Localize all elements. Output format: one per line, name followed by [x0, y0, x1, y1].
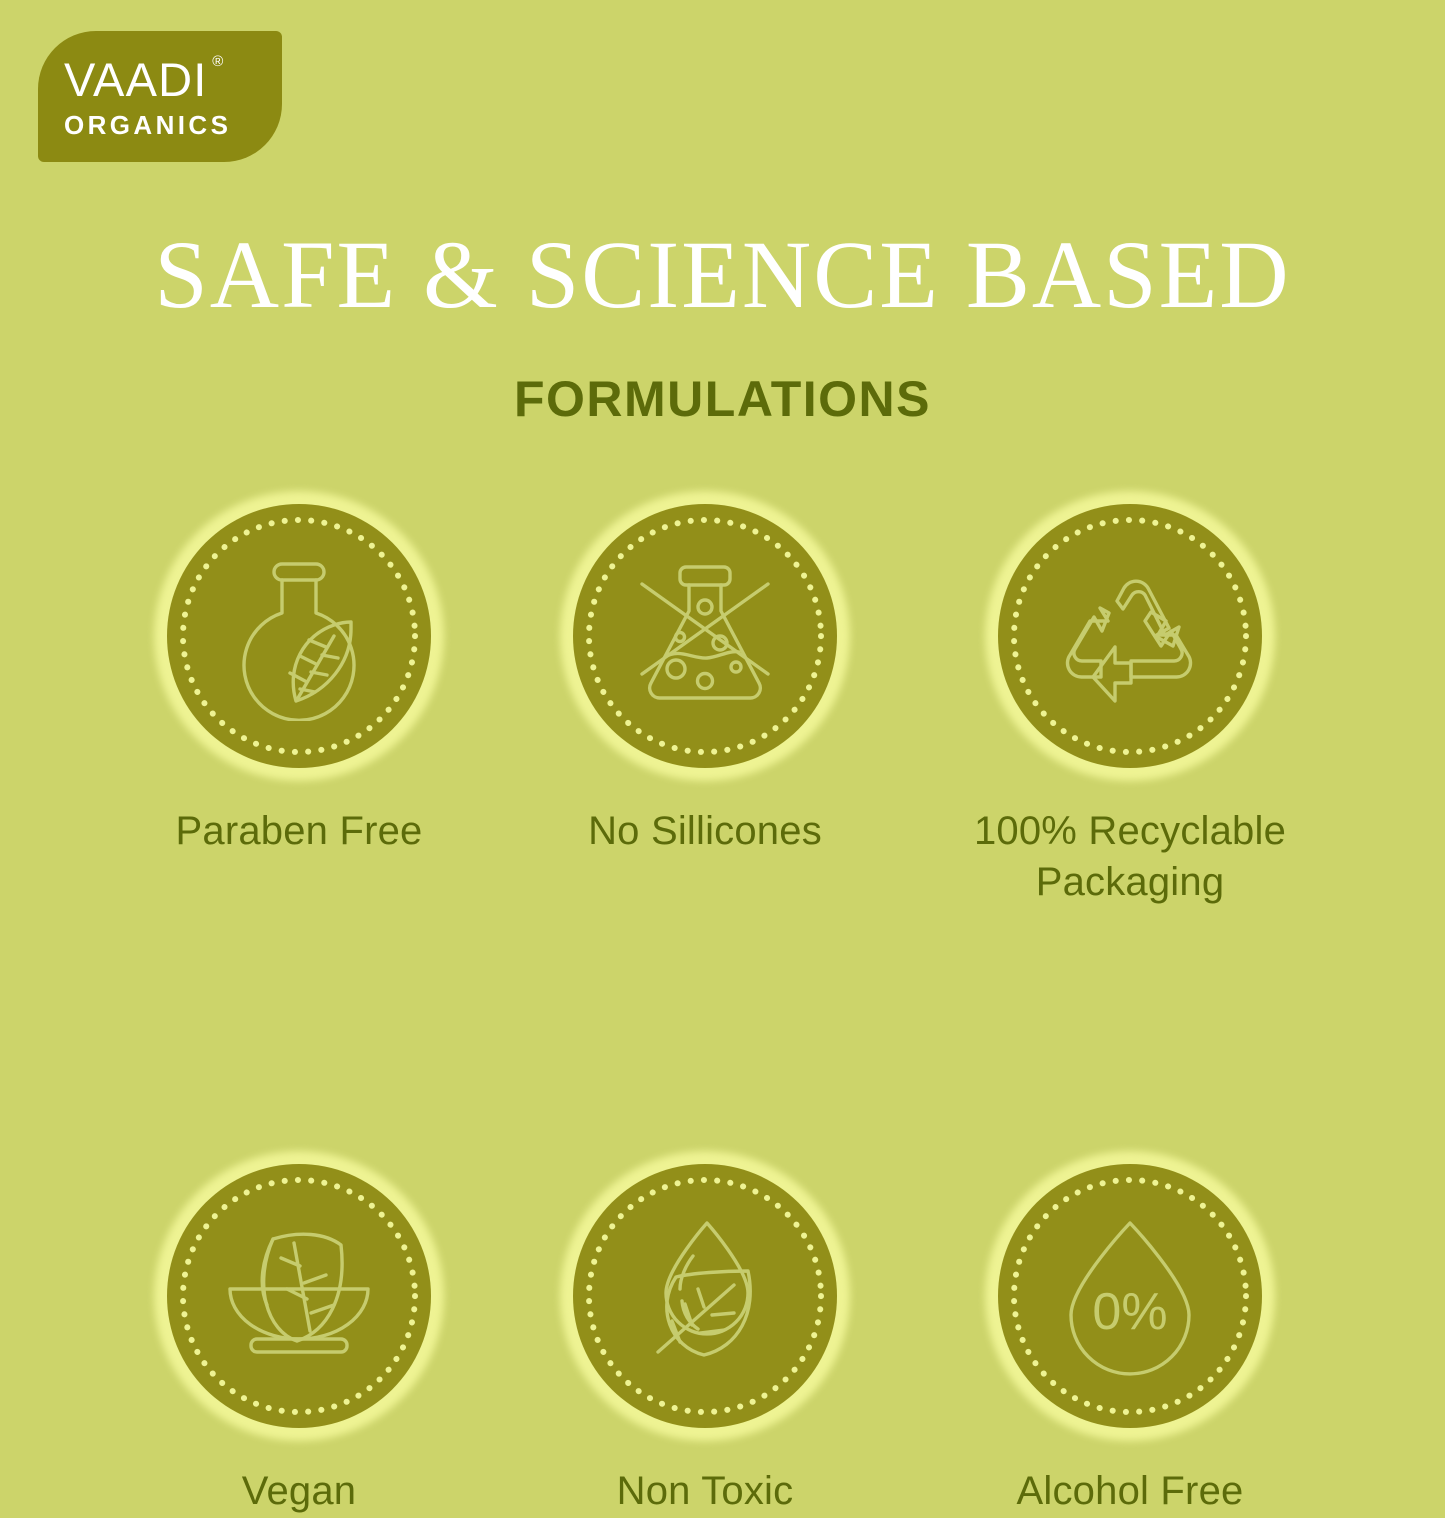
brand-tagline: ORGANICS — [64, 112, 231, 138]
brand-logo: VAADI® ORGANICS — [38, 31, 282, 162]
brand-name-text: VAADI — [64, 53, 208, 106]
badge-item-alcohol-free: 0% Alcohol Free — [920, 1146, 1340, 1517]
badge-item-no-sillicones: No Sillicones — [490, 486, 920, 908]
badge-label: 100% Recyclable Packaging — [930, 806, 1330, 908]
badge-label: Non Toxic — [617, 1466, 794, 1517]
page-subtitle: FORMULATIONS — [0, 373, 1445, 426]
badge-label: Vegan — [242, 1466, 356, 1517]
bowl-leaf-icon — [214, 1211, 384, 1381]
badge-medallion: 0% — [980, 1146, 1280, 1446]
badge-item-recyclable-packaging: 100% Recyclable Packaging — [920, 486, 1340, 908]
badge-item-vegan: Vegan — [108, 1146, 490, 1517]
registered-trademark-icon: ® — [212, 54, 224, 69]
promo-graphic: VAADI® ORGANICS SAFE & SCIENCE BASED FOR… — [0, 0, 1445, 1445]
badge-label: No Sillicones — [588, 806, 822, 857]
brand-name: VAADI® — [64, 56, 208, 103]
badge-medallion — [149, 486, 449, 786]
badge-item-paraben-free: Paraben Free — [108, 486, 490, 908]
badge-label: Alcohol Free — [1017, 1466, 1244, 1517]
crossed-out-erlenmeyer-flask-icon — [620, 551, 790, 721]
badge-medallion — [555, 486, 855, 786]
page-title: SAFE & SCIENCE BASED — [0, 225, 1445, 326]
zero-percent-value: 0% — [1092, 1283, 1167, 1341]
badge-medallion — [980, 486, 1280, 786]
droplet-leaf-icon — [620, 1211, 790, 1381]
badge-label: Paraben Free — [176, 806, 423, 857]
recycle-icon — [1045, 551, 1215, 721]
droplet-zero-percent-icon: 0% — [1045, 1211, 1215, 1381]
brand-logo-inner: VAADI® ORGANICS — [38, 31, 282, 162]
flask-leaf-icon — [214, 551, 384, 721]
badge-medallion — [149, 1146, 449, 1446]
badge-item-non-toxic: Non Toxic — [490, 1146, 920, 1517]
badge-row-top: Paraben Free — [0, 486, 1445, 908]
badge-grid: Paraben Free — [0, 486, 1445, 1518]
badge-medallion — [555, 1146, 855, 1446]
badge-row-bottom: Vegan — [0, 1146, 1445, 1517]
